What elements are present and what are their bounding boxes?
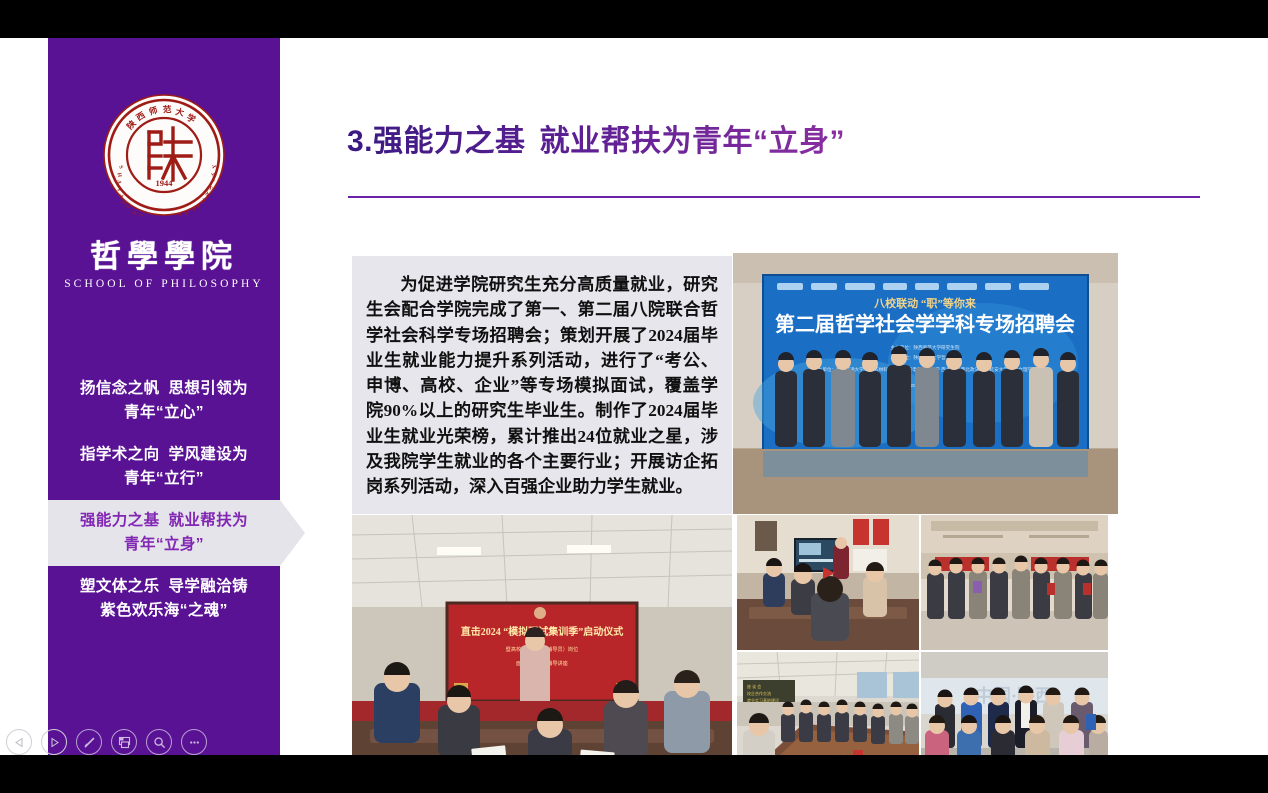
sidebar-item-4-line1b: 导学融洽铸 [169,578,249,595]
sidebar-item-2-line2: 青年“立行” [58,467,270,491]
triangle-left-icon [14,737,25,748]
sidebar-item-2-line1b: 学风建设为 [169,446,249,463]
sidebar-item-4[interactable]: 塑文体之乐导学融洽铸 紫色欢乐海“之魂” [48,566,280,632]
svg-text:校企合作交流: 校企合作交流 [747,690,771,696]
sidebar-nav: 扬信念之帆思想引领为 青年“立心” 指学术之向学风建设为 青年“立行” 强能力之… [48,368,280,632]
svg-text:范: 范 [163,104,172,114]
description-panel: 为促进学院研究生充分高质量就业，研究生会配合学院完成了第一、第二届八院联合哲学社… [352,256,732,514]
svg-text:N: N [130,209,137,216]
photo-enterprise-visit-group: 中国·陕西 [921,652,1108,755]
page-title-part1: 3.强能力之基 [347,125,526,158]
ellipsis-icon [188,736,201,749]
svg-text:第二届哲学社会学学科专场招聘会: 第二届哲学社会学学科专场招聘会 [775,312,1075,336]
pen-tool-button[interactable] [76,729,102,755]
title-divider [348,196,1200,198]
university-logo: 陕 西 师 范 大 学 1944 S H A A N [48,94,280,290]
sidebar: 陕 西 师 范 大 学 1944 S H A A N [48,38,280,755]
photo-mock-interview-ceremony: 直击2024 “模拟面试集训季”启动仪式 暨高校管理干部（辅导员）岗位 面试技巧… [352,515,732,755]
svg-text:1944: 1944 [156,178,174,188]
sidebar-item-4-line1a: 塑文体之乐 [80,578,160,595]
photo-recruitment-fair: 八校联动 “职”等你来 第二届哲学社会学学科专场招聘会 主办单位：陕西师范大学研… [733,253,1118,514]
college-name-en: SCHOOL OF PHILOSOPHY [48,278,280,290]
sidebar-item-4-line2: 紫色欢乐海“之魂” [58,599,270,623]
page-title: 3.强能力之基就业帮扶为青年“立身” [347,124,845,160]
svg-text:八校联动 “职”等你来: 八校联动 “职”等你来 [873,296,977,310]
svg-text:中国·陕西: 中国·陕西 [975,685,1053,706]
sidebar-item-1-line1b: 思想引领为 [169,380,249,397]
sidebar-item-2-line1a: 指学术之向 [80,446,160,463]
slide-overview-button[interactable] [111,729,137,755]
svg-text:A: A [116,187,122,192]
sidebar-item-3-line1a: 强能力之基 [80,512,160,529]
sidebar-item-1[interactable]: 扬信念之帆思想引领为 青年“立心” [48,368,280,434]
svg-text:座 谈 会: 座 谈 会 [747,683,761,689]
page-title-part2: 就业帮扶为青年“立身” [540,125,846,158]
letterbox-bottom [0,755,1268,793]
active-item-arrow-icon [280,500,305,566]
sidebar-item-2[interactable]: 指学术之向学风建设为 青年“立行” [48,434,280,500]
triangle-right-icon [49,737,60,748]
description-text: 为促进学院研究生充分高质量就业，研究生会配合学院完成了第一、第二届八院联合哲学社… [366,272,718,500]
more-options-button[interactable] [181,729,207,755]
photo-company-visit-group [921,515,1108,650]
next-slide-button[interactable] [41,729,67,755]
university-seal-icon: 陕 西 师 范 大 学 1944 S H A A N [103,94,225,216]
college-name-cn: 哲學學院 [48,240,280,274]
previous-slide-button[interactable] [6,729,32,755]
svg-text:U: U [178,212,182,216]
svg-text:A: A [116,180,122,184]
sidebar-item-1-line1a: 扬信念之帆 [80,380,160,397]
photo-seminar-presentation [737,515,919,650]
presentation-slide: 陕 西 师 范 大 学 1944 S H A A N [0,38,1268,755]
zoom-button[interactable] [146,729,172,755]
sidebar-item-3-line1b: 就业帮扶为 [169,512,249,529]
sidebar-item-3-line2: 青年“立身” [58,533,270,557]
magnifier-icon [153,736,166,749]
photo-long-table-meeting: 座 谈 会 校企合作交流 就业实习基地建设 [737,652,919,755]
slide-toolbar [0,722,207,755]
sidebar-item-1-line2: 青年“立心” [58,401,270,425]
letterbox-top [0,0,1268,38]
grid-icon [118,736,131,749]
svg-text:N: N [117,194,124,199]
pen-icon [83,736,96,749]
sidebar-item-3[interactable]: 强能力之基就业帮扶为 青年“立身” [48,500,280,566]
